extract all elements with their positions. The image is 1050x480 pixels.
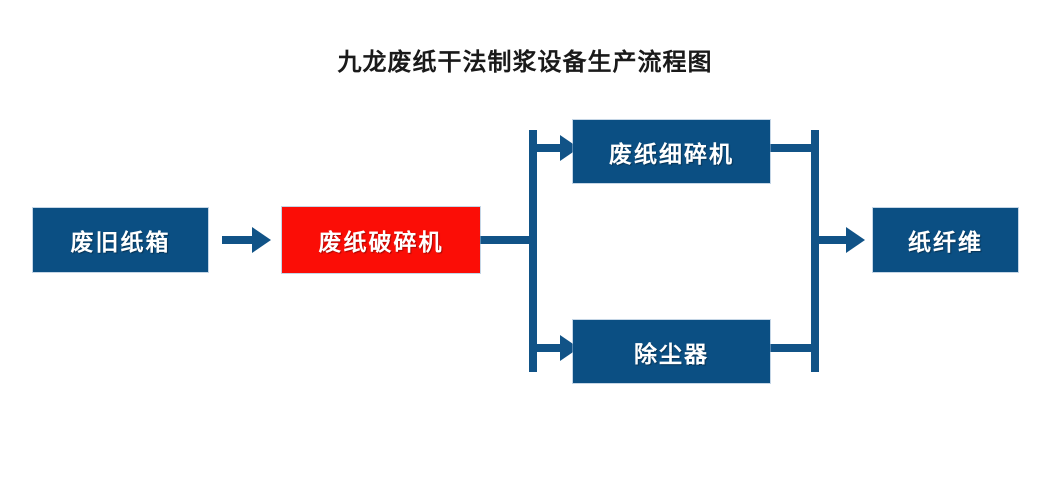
node-waste-carton[interactable]: 废旧纸箱	[33, 208, 208, 272]
node-paper-crusher[interactable]: 废纸破碎机	[282, 207, 480, 273]
node-dust-collector-label: 除尘器	[634, 335, 709, 369]
node-waste-carton-label: 废旧纸箱	[71, 223, 171, 257]
node-fine-crusher[interactable]: 废纸细碎机	[573, 120, 770, 183]
connector-carton-to-crusher-shaft	[222, 236, 254, 244]
node-paper-fiber-label: 纸纤维	[908, 223, 983, 257]
node-dust-collector[interactable]: 除尘器	[573, 320, 770, 383]
arrow-right-icon	[846, 227, 865, 253]
arrow-right-icon	[252, 227, 271, 253]
connector-crusher-split-stub	[480, 236, 533, 244]
flowchart-canvas: 九龙废纸干法制浆设备生产流程图 废旧纸箱 废纸破碎机 废纸细碎机 除尘器 纸纤维	[0, 0, 1050, 480]
connector-split-trunk	[529, 130, 537, 372]
node-paper-fiber[interactable]: 纸纤维	[873, 208, 1018, 272]
connector-merge-trunk	[811, 130, 819, 372]
node-fine-crusher-label: 废纸细碎机	[609, 135, 734, 169]
page-title: 九龙废纸干法制浆设备生产流程图	[0, 42, 1050, 77]
node-paper-crusher-label: 废纸破碎机	[319, 223, 444, 257]
